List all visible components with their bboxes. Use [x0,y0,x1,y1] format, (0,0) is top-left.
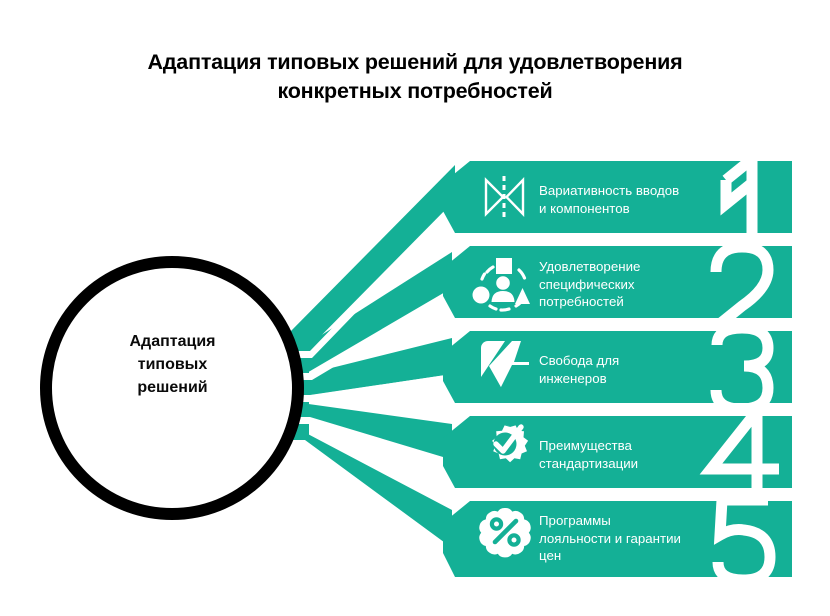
page-title-line-1: Адаптация типовых решений для удовлетвор… [0,48,830,77]
hub-label: Адаптация типовых решений [65,330,280,399]
percent-badge-icon [479,508,530,557]
row-label-4: Преимущества стандартизации [539,437,729,472]
page-title-line-2: конкретных потребностей [0,77,830,106]
connector-ribbon-4 [287,401,452,460]
hub-label-line-2: типовых [65,353,280,376]
hub-label-line-3: решений [65,376,280,399]
row-label-5: Программы лояльности и гарантии цен [539,512,729,565]
row-label-1: Вариативность вводов и компонентов [539,182,729,217]
arrow-block-icon [481,341,529,389]
page-title: Адаптация типовых решений для удовлетвор… [0,48,830,106]
row-label-3: Свобода для инженеров [539,352,729,387]
row-label-2: Удовлетворение специфических потребносте… [539,258,729,311]
hub-label-line-1: Адаптация [65,330,280,353]
